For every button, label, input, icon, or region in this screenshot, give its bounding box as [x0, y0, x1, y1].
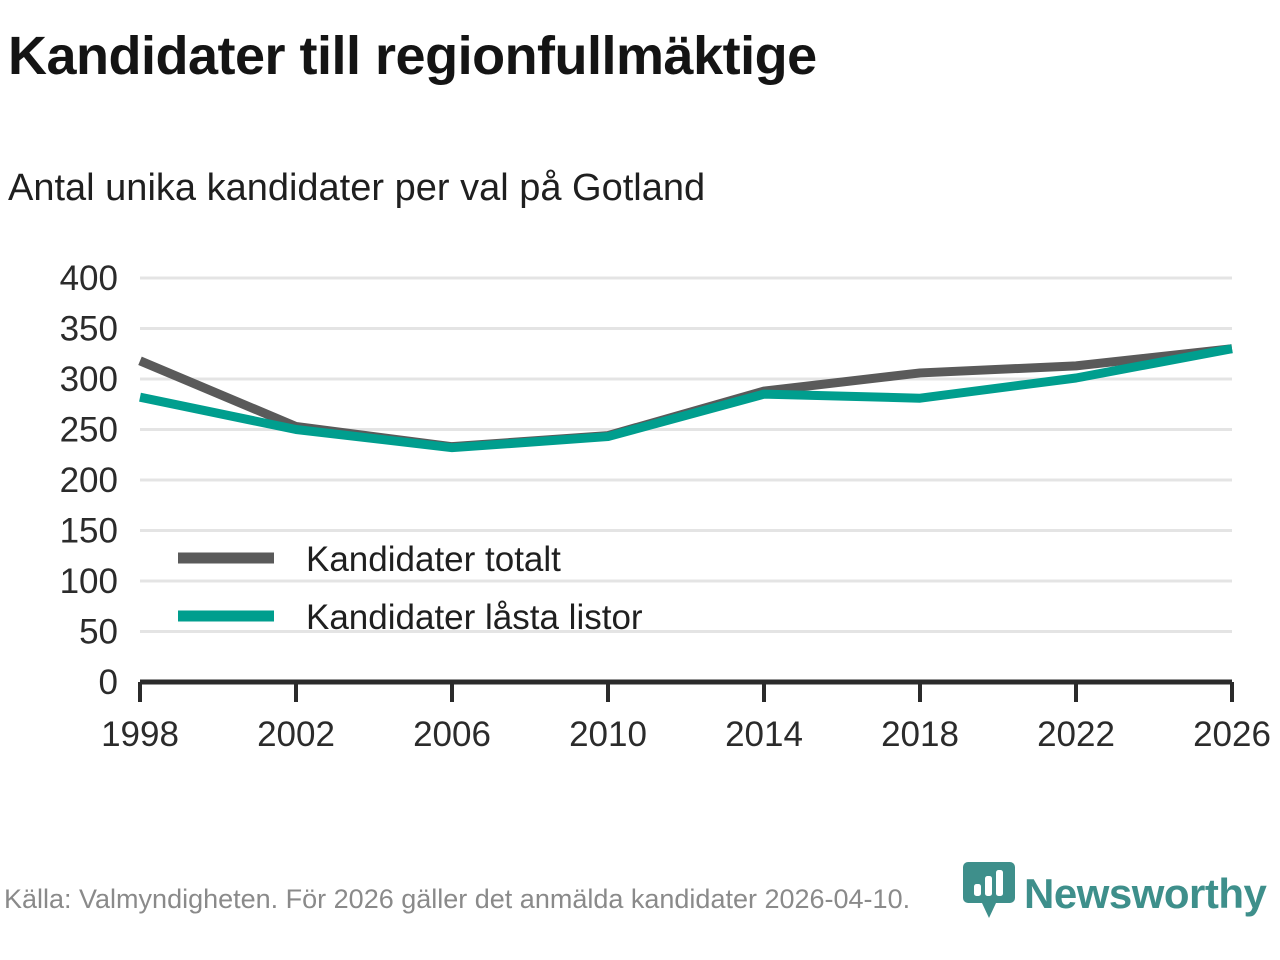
x-tick-label: 2002: [257, 715, 335, 748]
x-tick-label: 2014: [725, 715, 803, 748]
page-subtitle: Antal unika kandidater per val på Gotlan…: [8, 168, 705, 210]
y-tick-label: 350: [60, 310, 118, 349]
page-title: Kandidater till regionfullmäktige: [8, 28, 817, 85]
x-tick-label: 2022: [1037, 715, 1115, 748]
y-tick-label: 200: [60, 461, 118, 500]
y-tick-label: 100: [60, 562, 118, 601]
x-tick-label: 2018: [881, 715, 959, 748]
y-tick-label: 0: [99, 663, 118, 702]
data-series-lines: [140, 349, 1232, 448]
source-note: Källa: Valmyndigheten. För 2026 gäller d…: [4, 884, 910, 915]
y-axis-tick-labels: 050100150200250300350400: [60, 259, 118, 702]
line-chart: 050100150200250300350400 199820022006201…: [0, 248, 1280, 748]
x-axis: [140, 682, 1232, 702]
y-tick-label: 400: [60, 259, 118, 298]
chart-svg: 050100150200250300350400 199820022006201…: [0, 248, 1280, 748]
x-tick-label: 1998: [101, 715, 179, 748]
newsworthy-bars-pin-icon: [962, 860, 1016, 927]
newsworthy-logo: Newsworthy: [962, 860, 1266, 927]
y-tick-label: 150: [60, 512, 118, 551]
chart-page: Kandidater till regionfullmäktige Antal …: [0, 0, 1280, 960]
chart-legend: Kandidater totaltKandidater låsta listor: [178, 540, 643, 637]
x-tick-label: 2010: [569, 715, 647, 748]
y-tick-label: 250: [60, 411, 118, 450]
x-axis-tick-labels: 19982002200620102014201820222026: [101, 715, 1271, 748]
grid-lines: [140, 278, 1232, 632]
logo-wordmark: Newsworthy: [1024, 873, 1266, 915]
x-tick-label: 2026: [1193, 715, 1271, 748]
legend-label: Kandidater låsta listor: [306, 598, 643, 637]
y-tick-label: 50: [79, 613, 118, 652]
x-tick-label: 2006: [413, 715, 491, 748]
legend-label: Kandidater totalt: [306, 540, 561, 579]
y-tick-label: 300: [60, 360, 118, 399]
